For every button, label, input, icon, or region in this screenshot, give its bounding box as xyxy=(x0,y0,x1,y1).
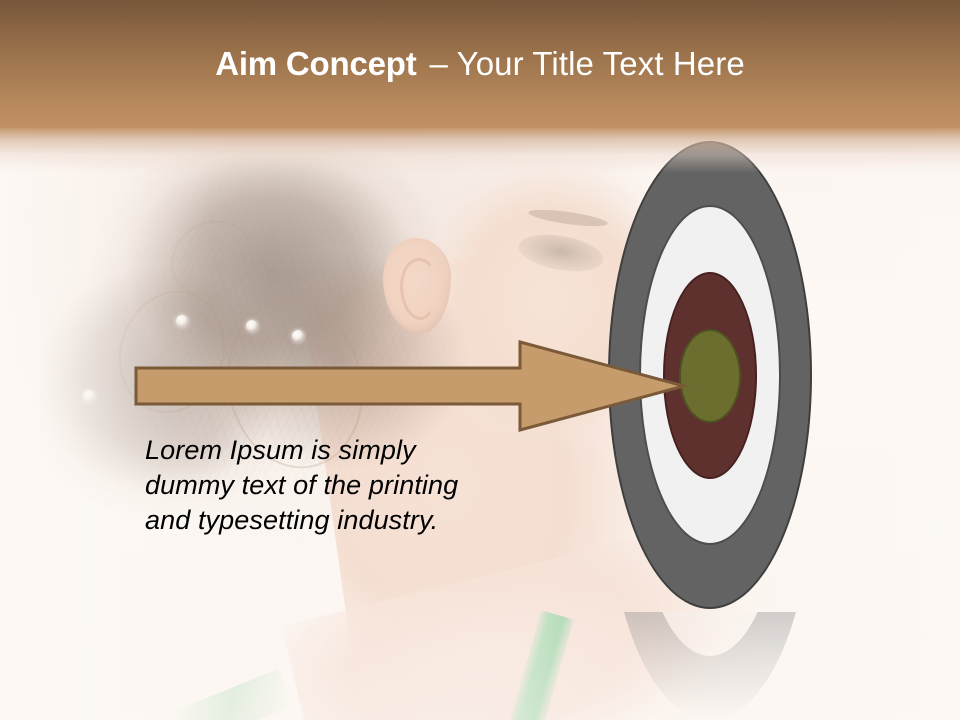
title-main: Aim Concept xyxy=(215,45,416,83)
body-text-line: and typesetting industry. xyxy=(145,503,565,538)
right-arrow xyxy=(130,338,690,434)
body-text-line: Lorem Ipsum is simply xyxy=(145,433,565,468)
title-band-fade xyxy=(0,127,960,173)
page-title: Aim Concept – Your Title Text Here xyxy=(0,0,960,128)
body-text-line: dummy text of the printing xyxy=(145,468,565,503)
slide-canvas: Aim Concept – Your Title Text Here Lorem… xyxy=(0,0,960,720)
title-subtitle: – Your Title Text Here xyxy=(430,45,745,83)
body-text: Lorem Ipsum is simply dummy text of the … xyxy=(145,433,565,538)
